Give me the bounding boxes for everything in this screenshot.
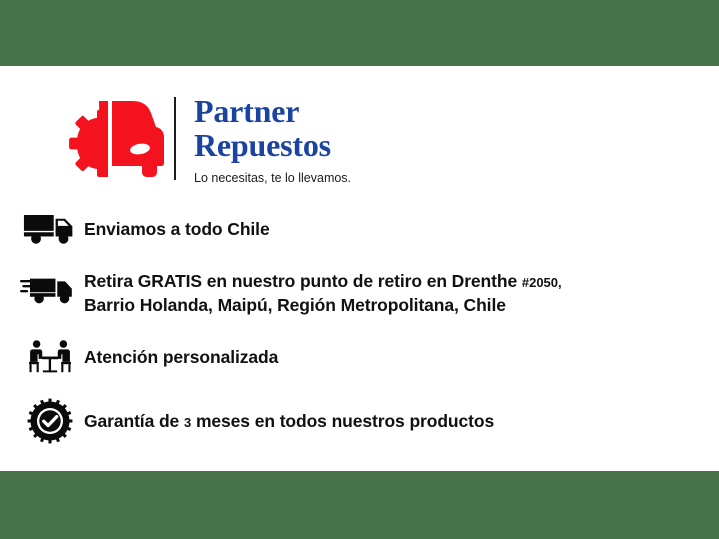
brand-text-block: Partner Repuestos Lo necesitas, te lo ll… <box>194 92 351 185</box>
feature-row: Enviamos a todo Chile <box>0 206 719 252</box>
feature-line: Barrio Holanda, Maipú, Región Metropolit… <box>84 294 562 317</box>
feature-row: Atención personalizada <box>0 334 719 380</box>
fast-delivery-truck-icon <box>16 268 84 305</box>
feature-row: Retira GRATIS en nuestro punto de retiro… <box>0 268 719 322</box>
feature-text: Enviamos a todo Chile <box>84 217 270 241</box>
feature-line: Atención personalizada <box>84 347 278 367</box>
feature-line: Enviamos a todo Chile <box>84 219 270 239</box>
feature-row: Garantía de 3 meses en todos nuestros pr… <box>0 396 719 446</box>
brand-name-line-2: Repuestos <box>194 128 351 162</box>
feature-text: Garantía de 3 meses en todos nuestros pr… <box>84 409 494 434</box>
address-number: #2050, <box>522 275 562 290</box>
feature-line: Retira GRATIS en nuestro punto de retiro… <box>84 270 562 294</box>
brand-tagline: Lo necesitas, te lo llevamos. <box>194 171 351 185</box>
feature-text: Atención personalizada <box>84 345 278 369</box>
brand-header: Partner Repuestos Lo necesitas, te lo ll… <box>52 92 351 185</box>
gear-car-logo-icon <box>52 93 170 185</box>
warranty-suffix: meses en todos nuestros productos <box>196 411 494 431</box>
bottom-color-band <box>0 471 719 539</box>
feature-line: Garantía de 3 meses en todos nuestros pr… <box>84 411 494 431</box>
warranty-months-number: 3 <box>184 415 191 430</box>
meeting-table-icon <box>16 339 84 375</box>
feature-line-main: Retira GRATIS en nuestro punto de retiro… <box>84 271 517 291</box>
top-color-band <box>0 0 719 66</box>
brand-divider <box>174 97 176 180</box>
feature-text: Retira GRATIS en nuestro punto de retiro… <box>84 268 562 317</box>
warranty-prefix: Garantía de <box>84 411 179 431</box>
delivery-truck-icon <box>16 213 84 245</box>
guarantee-seal-check-icon <box>16 398 84 444</box>
promo-banner: Partner Repuestos Lo necesitas, te lo ll… <box>0 0 719 539</box>
brand-name-line-1: Partner <box>194 94 351 128</box>
